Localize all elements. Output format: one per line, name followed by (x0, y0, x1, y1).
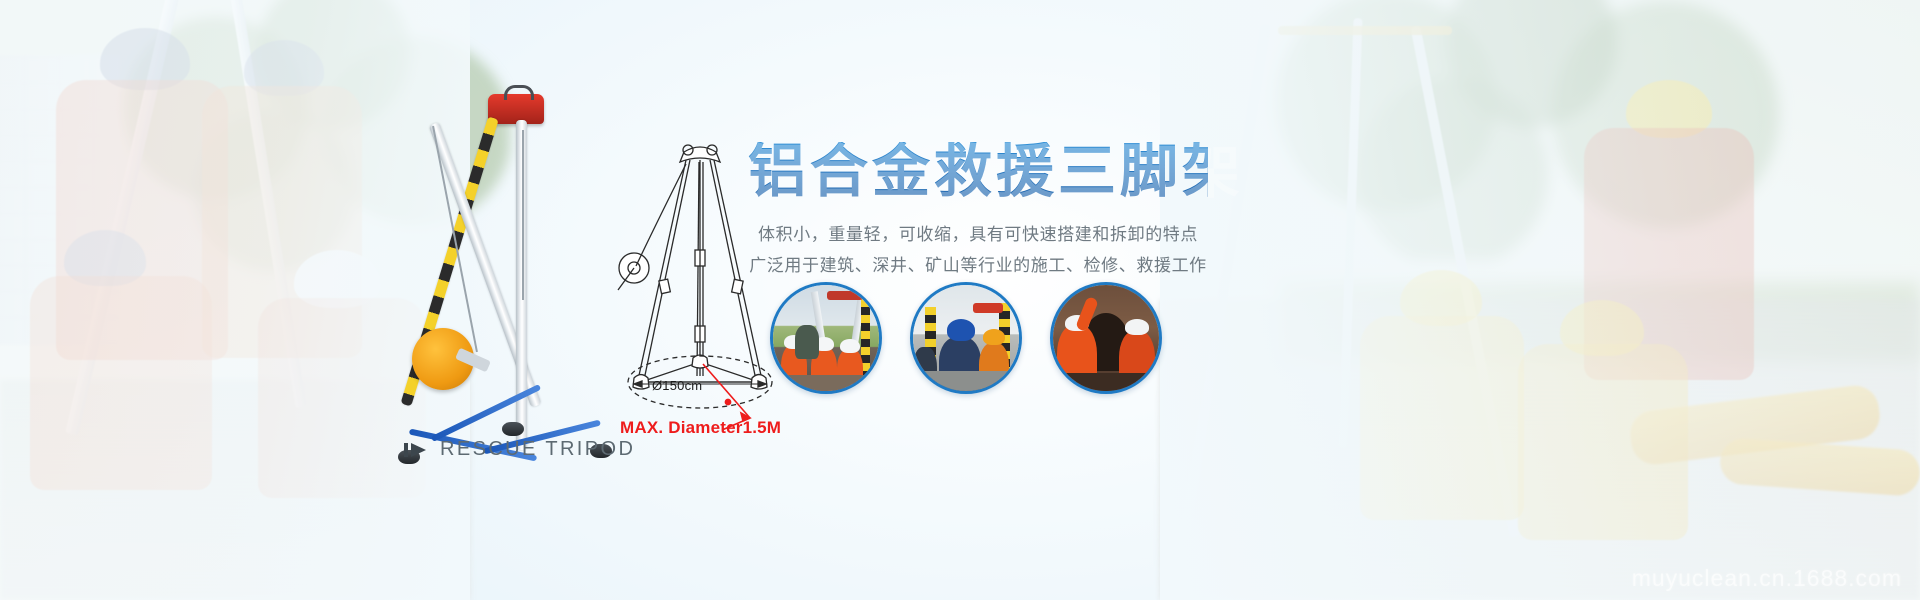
fade-overlay (1160, 0, 1920, 600)
helmet-icon (1125, 319, 1149, 335)
rescue-worker-figure (38, 28, 238, 358)
subtitle-line-2: 广泛用于建筑、深井、矿山等行业的施工、检修、救援工作 (748, 250, 1208, 281)
rescue-hose (1719, 437, 1920, 497)
diameter-dimension-label: Ø150cm (652, 378, 702, 393)
worker-body (30, 276, 212, 490)
hoist-cable (522, 130, 524, 300)
lawn-backdrop (1280, 282, 1920, 362)
rescue-worker-figure (1512, 300, 1692, 540)
worker-body (1584, 128, 1754, 380)
helmet-icon (100, 28, 190, 90)
worker-body (202, 86, 362, 358)
helmet-icon (64, 230, 146, 286)
helmet-icon (840, 339, 860, 353)
product-banner: RESCUE TRIPOD (0, 0, 1920, 600)
rescue-worker-figure (196, 40, 366, 360)
worker-body (56, 80, 228, 360)
ground-strip (1053, 373, 1159, 391)
ground-backdrop (1160, 300, 1920, 600)
helmet-icon (244, 40, 324, 96)
ground-strip (773, 375, 879, 391)
application-photo-gallery (770, 282, 1162, 394)
tripod-leg (1179, 24, 1270, 539)
worker-body (1518, 344, 1688, 540)
helmet-icon (1400, 270, 1482, 326)
bystander-figure (795, 325, 819, 359)
rescue-worker-figure (30, 230, 220, 490)
tripod-pole (65, 0, 183, 435)
circle-photo-field-rescue[interactable] (770, 282, 882, 394)
watermark: muyuclean.cn.1688.com (1632, 565, 1902, 592)
worker-body (1360, 316, 1524, 520)
tripod-leg (1338, 18, 1362, 448)
rescue-hose (1628, 383, 1883, 467)
tripod-leg (1410, 26, 1519, 538)
tripod-foot (502, 422, 524, 436)
subtitle-line-1: 体积小，重量轻，可收缩，具有可快速搭建和拆卸的特点 (748, 219, 1208, 250)
helmet-icon (294, 250, 380, 308)
tripod-pole (228, 0, 306, 408)
hand-winch (412, 328, 474, 390)
rescue-worker-figure (1580, 80, 1760, 380)
building-backdrop (0, 55, 120, 345)
helmet-icon (1626, 80, 1712, 138)
page-title: 铝合金救援三脚架 (748, 142, 1208, 203)
tripod-head (973, 303, 1003, 313)
ground-strip (913, 371, 1019, 391)
circle-photo-site-inspection[interactable] (910, 282, 1022, 394)
helmet-icon (1560, 300, 1644, 356)
circle-photo-confined-space-entry[interactable] (1050, 282, 1162, 394)
foliage-backdrop (1240, 0, 1800, 260)
headline-block: 铝合金救援三脚架 体积小，重量轻，可收缩，具有可快速搭建和拆卸的特点 广泛用于建… (748, 142, 1208, 282)
max-diameter-label: MAX. Diameter1.5M (620, 418, 781, 438)
play-triangle-icon (404, 442, 428, 458)
tripod-head (827, 291, 863, 300)
subtitle-block: 体积小，重量轻，可收缩，具有可快速搭建和拆卸的特点 广泛用于建筑、深井、矿山等行… (748, 219, 1208, 282)
background-photo-right (1160, 0, 1920, 600)
tripod-head-bar (1278, 26, 1452, 35)
sky-backdrop (1160, 0, 1920, 600)
helmet-icon (947, 319, 975, 341)
helmet-icon (983, 329, 1005, 345)
rescue-worker-figure (1360, 270, 1530, 520)
